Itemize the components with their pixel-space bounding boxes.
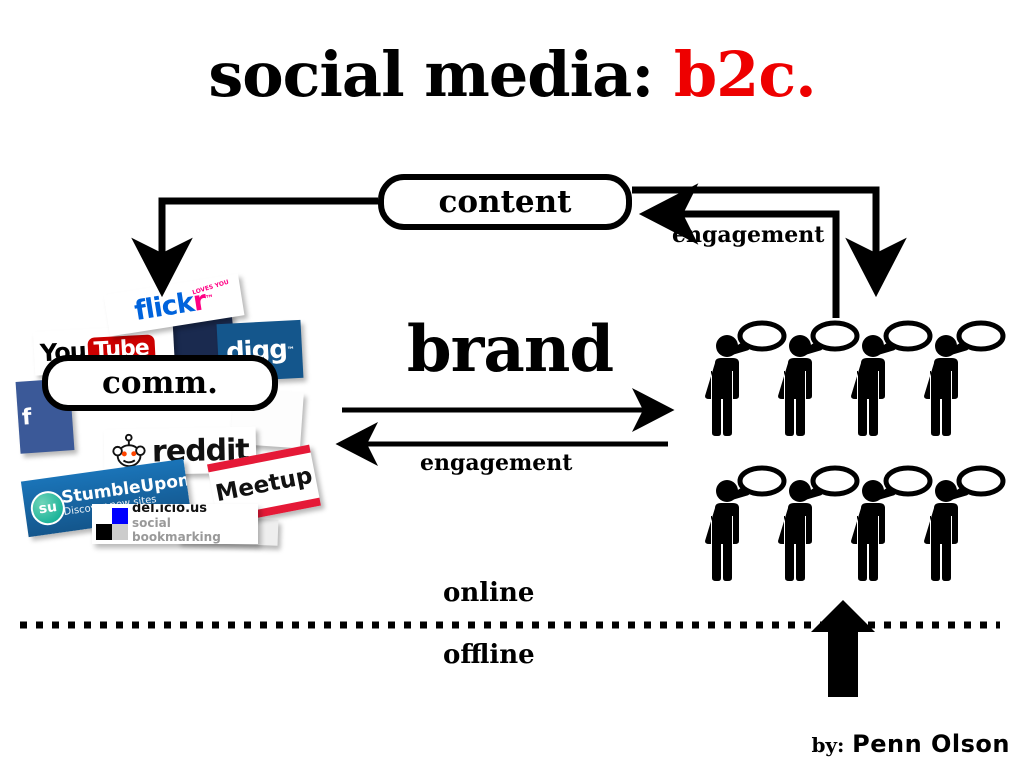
person-icon xyxy=(851,323,930,436)
logo-meetup-text: Meetup xyxy=(213,463,314,507)
diagram-canvas: social media: b2c. YouTube LOVES YOU fli… xyxy=(0,0,1024,768)
node-comm[interactable]: comm. xyxy=(42,355,278,411)
audience-row-2 xyxy=(705,468,1003,581)
logo-delicious-text: del.icio.us xyxy=(132,504,207,516)
edge-content-to-channels xyxy=(162,201,378,288)
social-media-logo-collage: YouTube LOVES YOU flickr™ digg™ f xyxy=(18,282,318,544)
delicious-squares-icon xyxy=(96,508,128,540)
title-accent: b2c. xyxy=(674,38,816,111)
logo-delicious: del.icio.us social bookmarking xyxy=(92,504,258,544)
page-title: social media: b2c. xyxy=(0,38,1024,111)
byline-author: Penn Olson xyxy=(852,730,1010,758)
trademark-icon: ™ xyxy=(287,345,294,354)
logo-facebook-text: f xyxy=(21,405,31,431)
person-icon xyxy=(778,468,857,581)
edge-offline-to-online xyxy=(811,600,875,697)
byline-prefix: by: xyxy=(811,733,844,757)
person-icon xyxy=(705,468,784,581)
node-brand: brand xyxy=(360,312,660,387)
logo-delicious-tagline: social bookmarking xyxy=(132,516,221,544)
label-offline: offline xyxy=(443,640,535,670)
node-comm-label: comm. xyxy=(102,365,218,401)
node-brand-label: brand xyxy=(407,312,613,387)
audience-row-1 xyxy=(705,323,1003,436)
person-icon xyxy=(851,468,930,581)
byline: by: Penn Olson xyxy=(811,730,1010,758)
person-icon xyxy=(924,323,1003,436)
trademark-icon: ™ xyxy=(205,294,214,305)
label-online: online xyxy=(443,578,534,608)
person-icon xyxy=(705,323,784,436)
person-icon xyxy=(924,468,1003,581)
logo-flickr-text: flick xyxy=(132,287,195,327)
label-engagement-middle: engagement xyxy=(420,450,572,476)
title-main: social media: xyxy=(208,38,673,111)
node-content-label: content xyxy=(439,184,572,220)
person-icon xyxy=(778,323,857,436)
label-engagement-top: engagement xyxy=(672,222,824,248)
node-content[interactable]: content xyxy=(378,174,632,230)
